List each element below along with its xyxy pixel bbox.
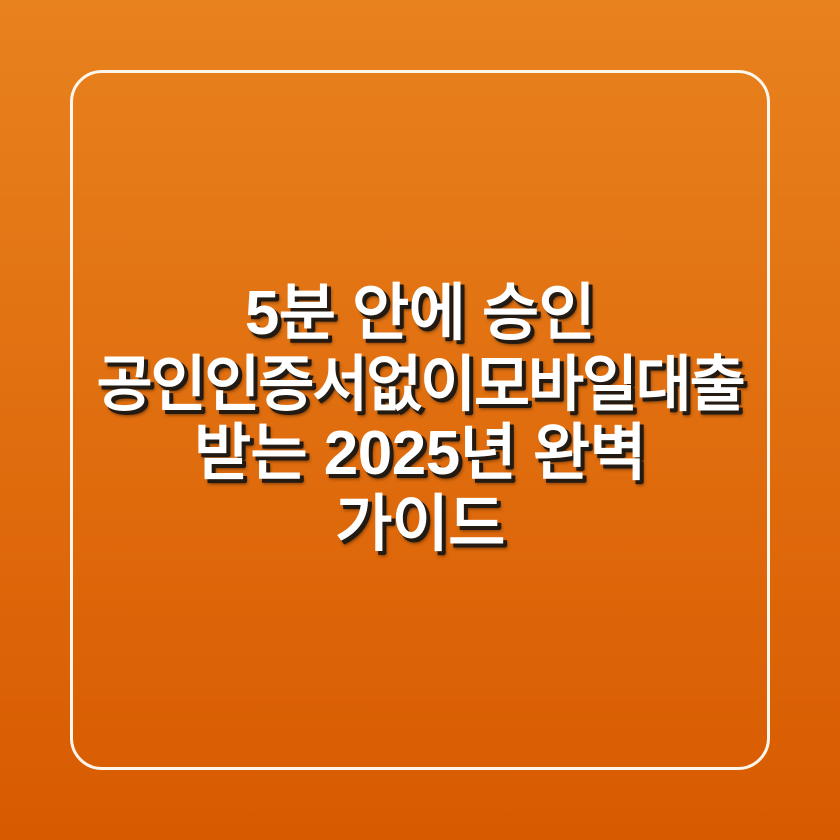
headline-line-3: 받는 2025년 완벽 (0, 419, 840, 490)
headline-line-1: 5분 안에 승인 (0, 279, 840, 350)
thumbnail-card: 5분 안에 승인 공인인증서없이모바일대출 받는 2025년 완벽 가이드 (0, 0, 840, 840)
headline-line-2: 공인인증서없이모바일대출 (0, 350, 840, 420)
headline-block: 5분 안에 승인 공인인증서없이모바일대출 받는 2025년 완벽 가이드 (0, 0, 840, 840)
headline-line-4: 가이드 (0, 490, 840, 561)
